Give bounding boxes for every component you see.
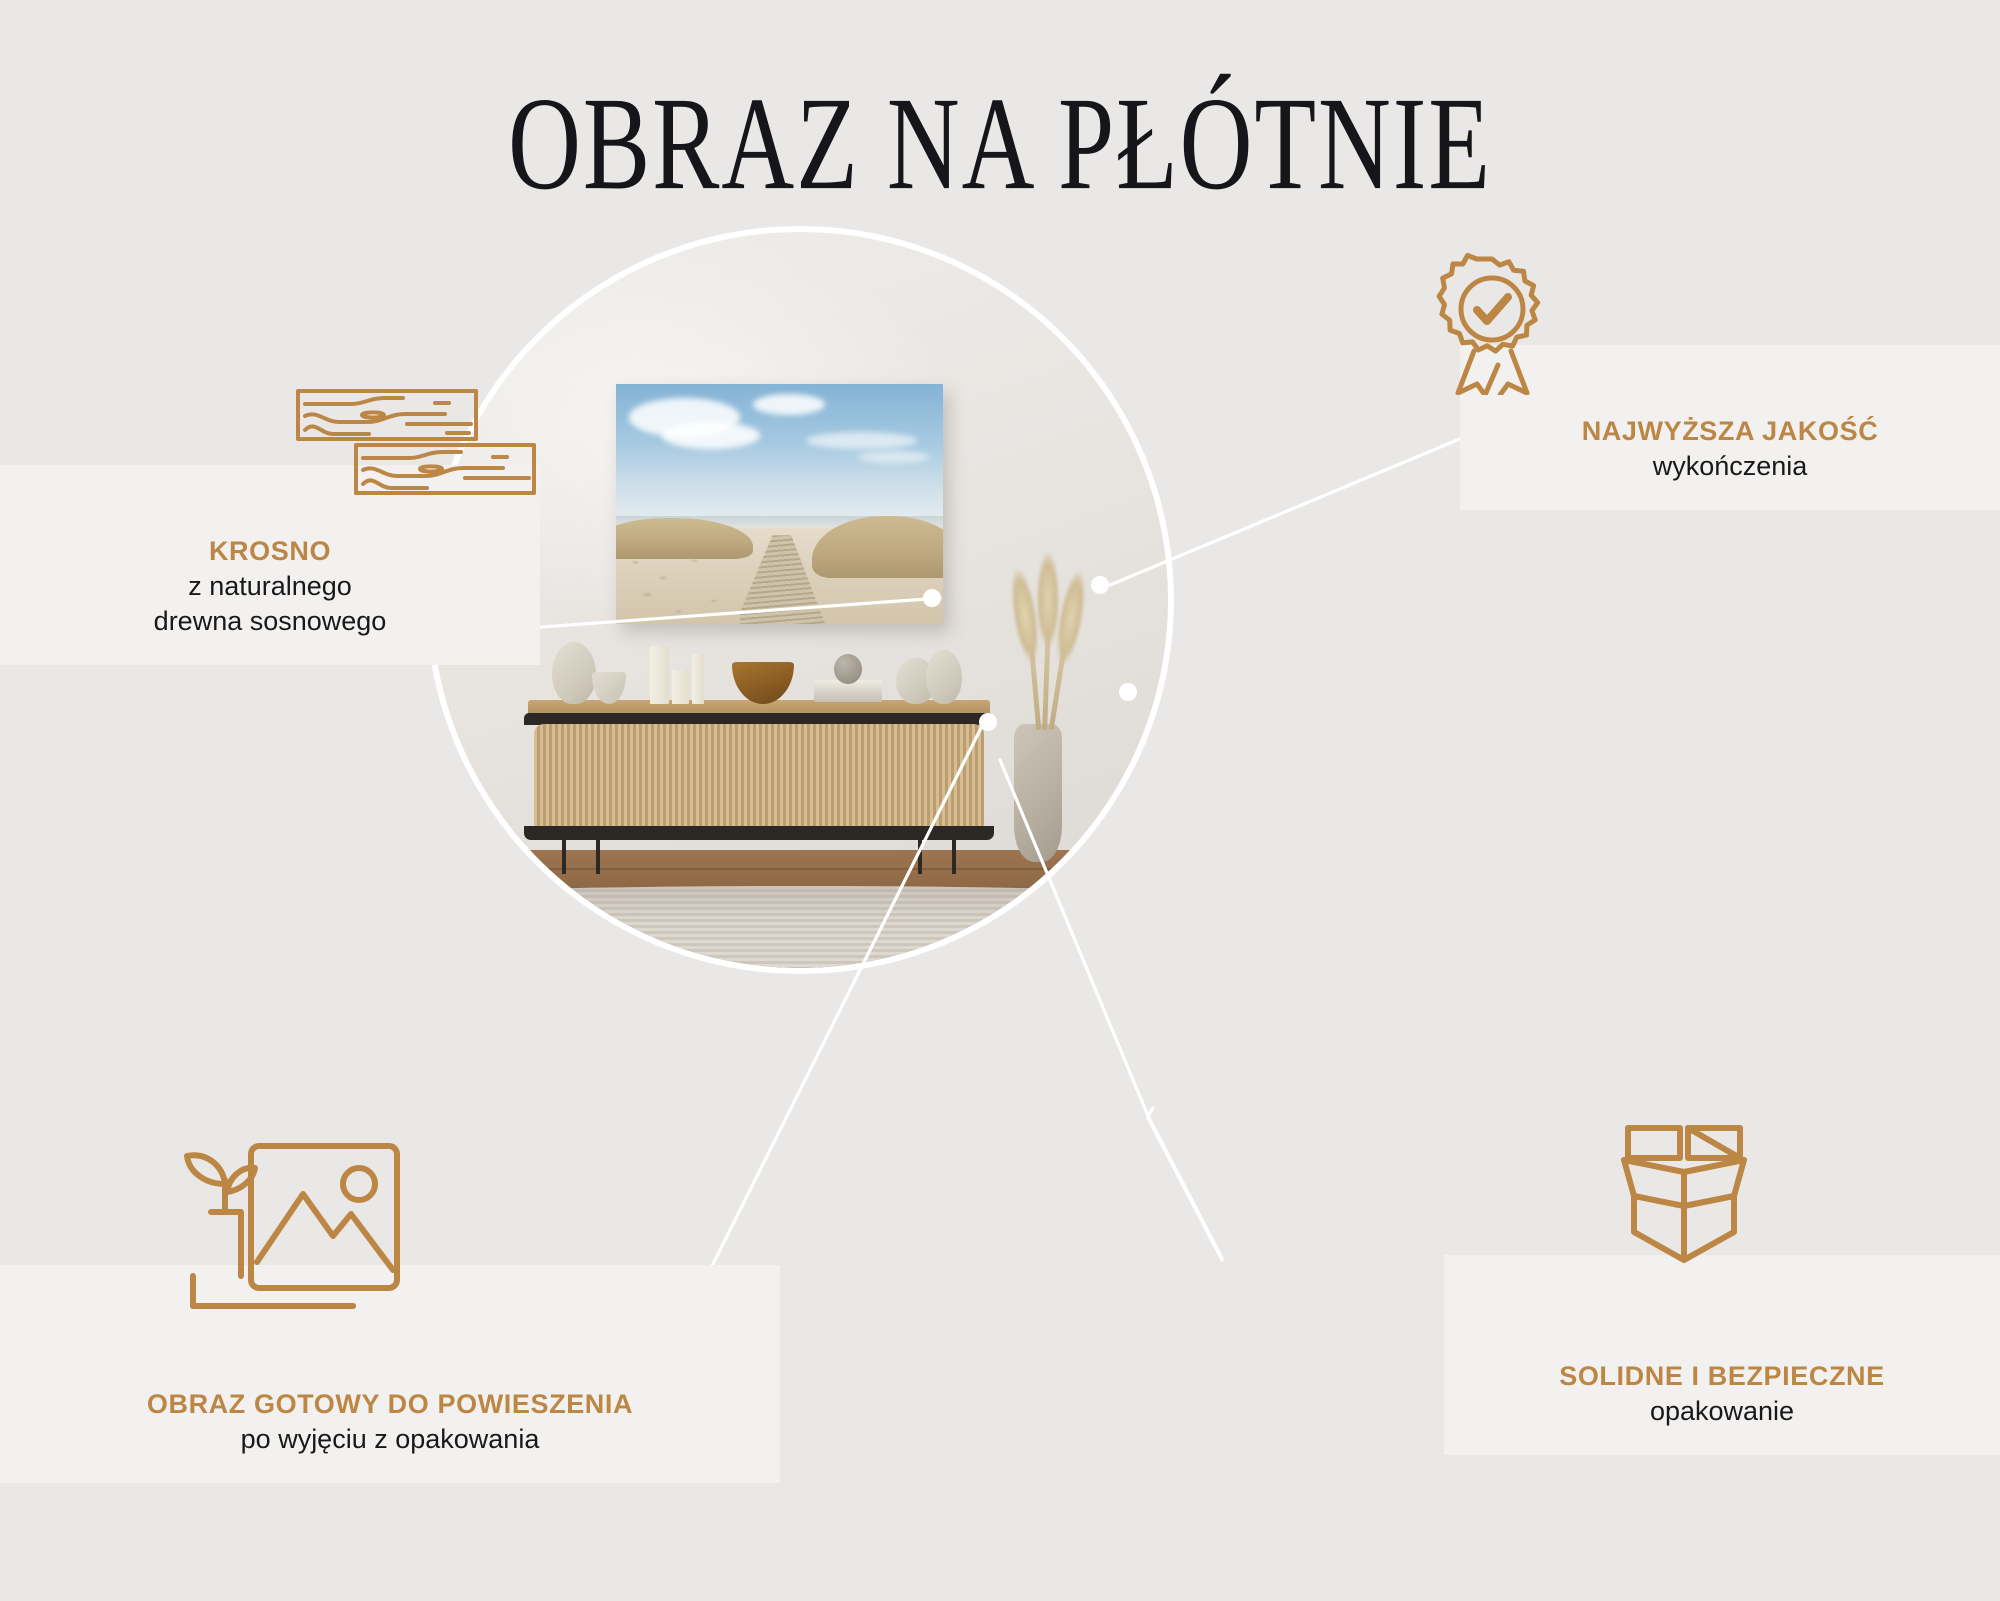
scene-photo (432, 232, 1168, 968)
decor-candle-thin (692, 654, 704, 704)
canvas-artwork (616, 384, 943, 624)
decor-stone-sphere (834, 654, 862, 684)
connector-opakowanie-a (1148, 1118, 1222, 1260)
feature-subtitle-gotowy: po wyjęciu z opakowania (34, 1422, 746, 1457)
decor-large-vase (552, 642, 596, 704)
shipping-box-icon (1620, 1120, 1748, 1268)
framed-picture-plant-icon (155, 1140, 411, 1312)
feature-title-krosno: KROSNO (34, 535, 506, 569)
decor-candle-tall (650, 646, 669, 704)
page-title: OBRAZ NA PŁÓTNIE (30, 78, 1970, 211)
decor-vase-right-b (926, 650, 962, 704)
feature-title-jakosc: NAJWYŻSZA JAKOŚĆ (1494, 415, 1966, 449)
feature-subtitle-krosno-line1: z naturalnego (34, 569, 506, 604)
scene-circle-photo (432, 232, 1168, 968)
room-rug (432, 886, 1168, 968)
pampas-grass-vase (1014, 724, 1062, 862)
feature-card-opakowanie: SOLIDNE I BEZPIECZNE opakowanie (1444, 1255, 2000, 1455)
sideboard-furniture (524, 700, 994, 852)
feature-title-opakowanie: SOLIDNE I BEZPIECZNE (1478, 1360, 1966, 1394)
feature-subtitle-krosno-line2: drewna sosnowego (34, 604, 506, 639)
feature-subtitle-jakosc: wykończenia (1494, 449, 1966, 484)
feature-subtitle-opakowanie: opakowanie (1478, 1394, 1966, 1429)
product-infographic: OBRAZ NA PŁÓTNIE (0, 0, 2000, 1601)
artwork-sand-texture (616, 547, 812, 624)
wood-planks-icon (295, 388, 537, 498)
sideboard-fluted-doors (534, 724, 984, 828)
quality-badge-icon (1425, 253, 1559, 395)
feature-title-gotowy: OBRAZ GOTOWY DO POWIESZENIA (34, 1388, 746, 1422)
decor-candle-short (672, 670, 689, 704)
